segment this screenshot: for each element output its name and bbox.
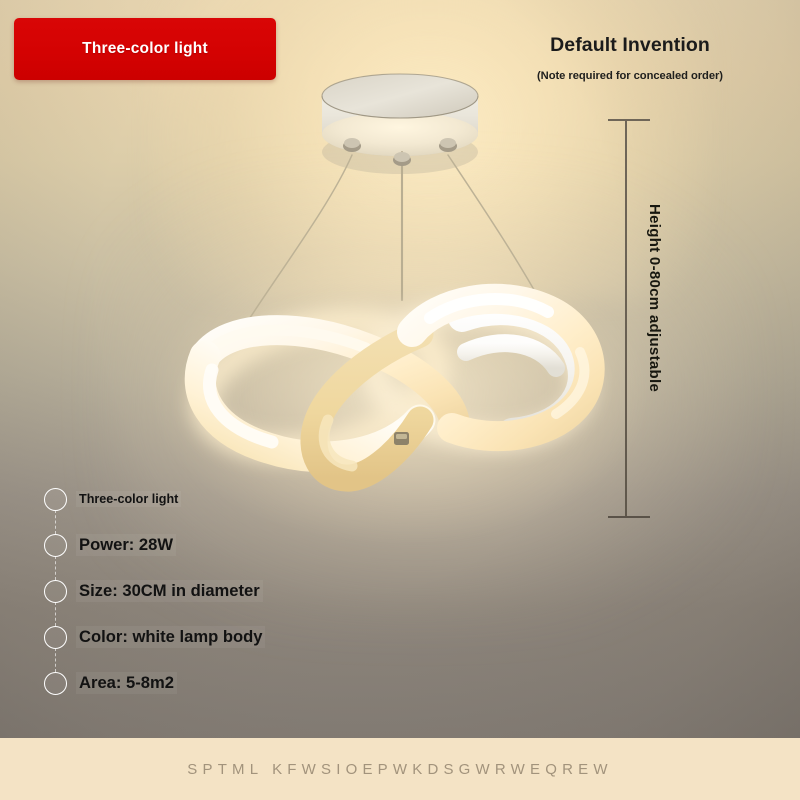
spec-connector-line <box>55 556 56 580</box>
spec-item-three-color-light: Three-color light <box>44 476 374 522</box>
spec-item-size: Size: 30CM in diameter <box>44 568 374 614</box>
product-detail-image: Three-color light Default Invention (Not… <box>0 0 800 800</box>
spec-connector-line <box>55 510 56 534</box>
bottom-banner: SPTML KFWSIOEPWKDSGWRWEQREW <box>0 738 800 800</box>
spec-label: Area: 5-8m2 <box>76 672 177 694</box>
spec-item-power: Power: 28W <box>44 522 374 568</box>
spec-label: Three-color light <box>76 491 181 507</box>
spec-item-area: Area: 5-8m2 <box>44 660 374 706</box>
headline-block: Default Invention (Note required for con… <box>470 34 790 82</box>
dimension-line <box>625 120 627 518</box>
bottom-banner-text: SPTML KFWSIOEPWKDSGWRWEQREW <box>187 761 612 778</box>
spec-bullet-icon <box>44 534 67 557</box>
spec-bullet-icon <box>44 626 67 649</box>
spec-item-color: Color: white lamp body <box>44 614 374 660</box>
spec-connector-line <box>55 602 56 626</box>
spec-label: Color: white lamp body <box>76 626 265 648</box>
headline-title: Default Invention <box>470 34 790 57</box>
spec-bullet-icon <box>44 672 67 695</box>
spec-label: Size: 30CM in diameter <box>76 580 263 602</box>
promo-badge-label: Three-color light <box>82 40 208 58</box>
height-dimension-indicator: Height 0-80cm adjustable <box>605 118 697 520</box>
spec-list: Three-color light Power: 28W Size: 30CM … <box>44 476 374 706</box>
spec-label: Power: 28W <box>76 534 176 556</box>
spec-connector-line <box>55 648 56 672</box>
dimension-tick-top <box>608 119 650 121</box>
spec-bullet-icon <box>44 580 67 603</box>
spec-bullet-icon <box>44 488 67 511</box>
headline-note: (Note required for concealed order) <box>470 70 790 82</box>
dimension-label: Height 0-80cm adjustable <box>646 204 663 392</box>
promo-badge[interactable]: Three-color light <box>14 18 276 80</box>
dimension-tick-bottom <box>608 516 650 518</box>
